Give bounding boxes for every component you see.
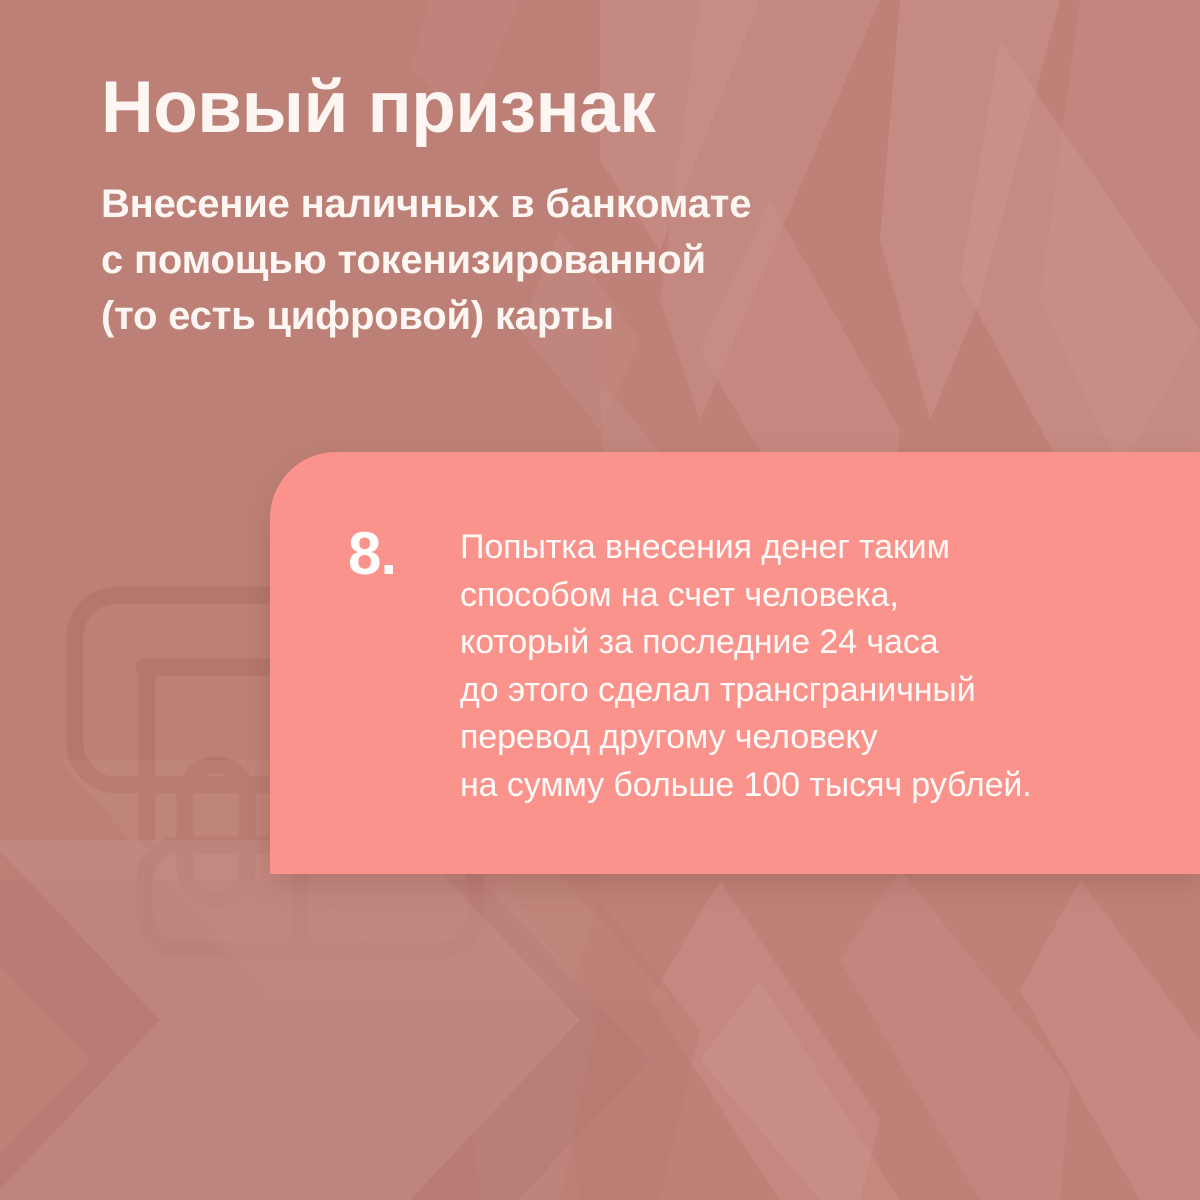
subtitle-line-3: (то есть цифровой) карты: [101, 288, 921, 344]
page-subtitle: Внесение наличных в банкомате с помощью …: [101, 150, 921, 344]
page-title: Новый признак: [101, 66, 921, 150]
fact-text-line-4: до этого сделал трансграничный: [460, 667, 1140, 715]
slide-canvas: Новый признак Внесение наличных в банком…: [0, 0, 1200, 1200]
subtitle-line-1: Внесение наличных в банкомате: [101, 176, 921, 232]
fact-text-line-3: который за последние 24 часа: [460, 619, 1140, 667]
subtitle-line-2: с помощью токенизированной: [101, 232, 921, 288]
fact-text-line-2: способом на счет человека,: [460, 572, 1140, 620]
fact-text-line-6: на сумму больше 100 тысяч рублей.: [460, 762, 1140, 810]
fact-text-line-5: перевод другому человеку: [460, 714, 1140, 762]
fact-text-line-1: Попытка внесения денег таким: [460, 524, 1140, 572]
heading-block: Новый признак Внесение наличных в банком…: [101, 66, 921, 344]
fact-card: 8. Попытка внесения денег таким способом…: [270, 452, 1200, 874]
fact-number: 8.: [348, 524, 460, 584]
fact-text: Попытка внесения денег таким способом на…: [460, 524, 1140, 809]
